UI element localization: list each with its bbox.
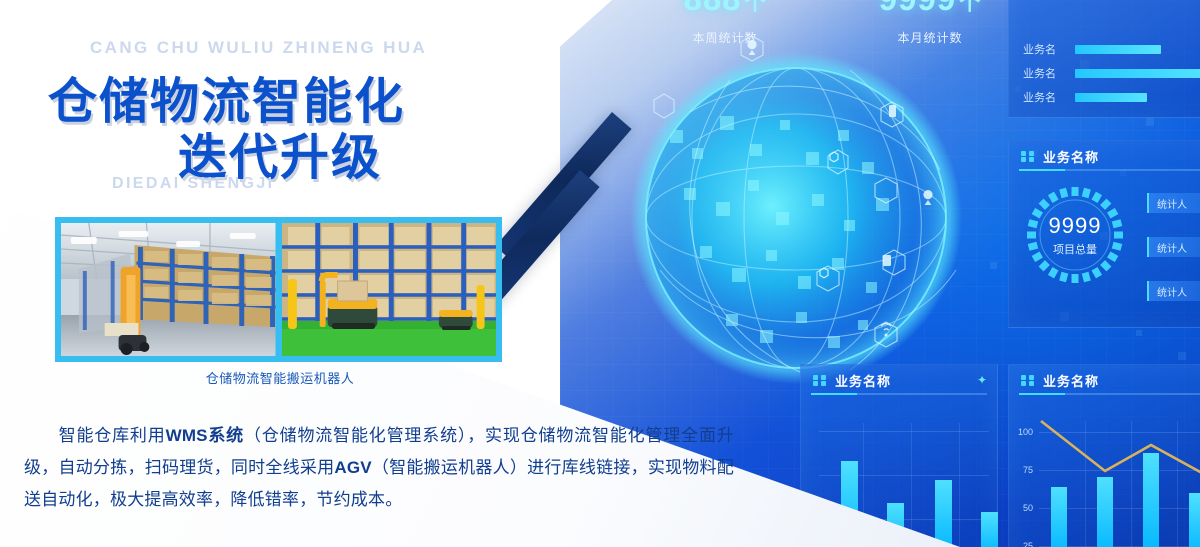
stat-monthly: 9999个 本月统计数 <box>840 0 1020 46</box>
stat-chip-label: 统计人 <box>1157 240 1187 255</box>
list-item-label: 业务名 <box>1023 89 1056 105</box>
project-total-gauge: 9999 项目总量 <box>1023 183 1127 287</box>
grid-dots-icon <box>1021 375 1035 386</box>
panel-chart-left-rule <box>811 393 987 395</box>
poster-canvas: 888个 本周统计数 9999个 本月统计数 业务名称 业务名 业务名 业务名 <box>0 0 1200 547</box>
panel-gauge-title: 业务名称 <box>1043 147 1099 166</box>
list-item-label: 业务名 <box>1023 41 1056 57</box>
stat-chip[interactable]: 统计人 <box>1147 281 1200 301</box>
sparkle-icon: ✦ <box>977 373 987 387</box>
body-seg-0: 智能仓库利用 <box>58 426 166 445</box>
panel-chart-right-title: 业务名称 <box>1043 371 1099 390</box>
panel-chart-right[interactable]: 业务名称 100 75 50 25 <box>1008 364 1200 547</box>
grid-dots-icon <box>1021 151 1035 162</box>
panel-chart-right-header: 业务名称 <box>1009 365 1200 395</box>
list-item-bar <box>1075 93 1147 102</box>
chart-trend-line <box>1009 399 1200 547</box>
body-paragraph: 智能仓库利用WMS系统（仓储物流智能化管理系统），实现仓储物流智能化管理全面升级… <box>24 420 734 516</box>
stat-chip[interactable]: 统计人 <box>1147 193 1200 213</box>
stat-monthly-value: 9999 <box>879 0 956 17</box>
photo-row <box>61 223 496 356</box>
list-item-bar <box>1075 45 1161 54</box>
photo-warehouse-forklift <box>61 223 276 356</box>
list-item[interactable]: 业务名 <box>1023 69 1200 79</box>
stat-chip[interactable]: 统计人 <box>1147 237 1200 257</box>
stat-chip-label: 统计人 <box>1157 284 1187 299</box>
stat-weekly-value-wrap: 888个 <box>640 0 810 21</box>
photo-warehouse-agv <box>282 223 497 356</box>
panel-project-total[interactable]: 业务名称 <box>1008 140 1200 328</box>
photo-frame <box>55 217 502 362</box>
stat-monthly-value-wrap: 9999个 <box>840 0 1020 21</box>
pinyin-top: CANG CHU WULIU ZHINENG HUA <box>90 38 427 58</box>
panel-chart-left-title: 业务名称 <box>835 371 891 390</box>
top-statistics: 888个 本周统计数 9999个 本月统计数 <box>640 0 1020 52</box>
panel-gauge-rule <box>1019 169 1200 171</box>
stat-monthly-unit: 个 <box>959 0 981 15</box>
stat-weekly: 888个 本周统计数 <box>640 0 810 46</box>
stat-chip-label: 统计人 <box>1157 196 1187 211</box>
stat-monthly-caption: 本月统计数 <box>840 29 1020 46</box>
chart-right-plot: 100 75 50 25 <box>1009 399 1200 547</box>
pinyin-bottom: DIEDAI SHENGJI <box>112 175 275 193</box>
panel-business-list[interactable]: 业务名称 业务名 业务名 业务名 <box>1008 0 1200 118</box>
list-item[interactable]: 业务名 <box>1023 45 1200 55</box>
panel-chart-right-rule <box>1019 393 1200 395</box>
list-item[interactable]: 业务名 <box>1023 93 1200 103</box>
stat-weekly-caption: 本周统计数 <box>640 29 810 46</box>
gauge-value: 9999 <box>1023 213 1127 239</box>
panel-chart-left-header: 业务名称 ✦ <box>801 365 997 395</box>
panel-gauge-header: 业务名称 <box>1009 141 1200 171</box>
body-seg-3: AGV <box>334 458 371 477</box>
globe-graphic <box>600 20 1020 420</box>
list-item-bar <box>1075 69 1200 78</box>
gauge-caption: 项目总量 <box>1023 241 1127 257</box>
chart-bar <box>935 480 952 547</box>
stat-weekly-unit: 个 <box>745 0 767 15</box>
stat-weekly-value: 888 <box>683 0 741 17</box>
list-item-label: 业务名 <box>1023 65 1056 81</box>
body-seg-1: WMS系统 <box>166 426 244 445</box>
chart-bar <box>981 512 998 547</box>
photo-caption: 仓储物流智能搬运机器人 <box>55 368 505 387</box>
grid-dots-icon <box>813 375 827 386</box>
